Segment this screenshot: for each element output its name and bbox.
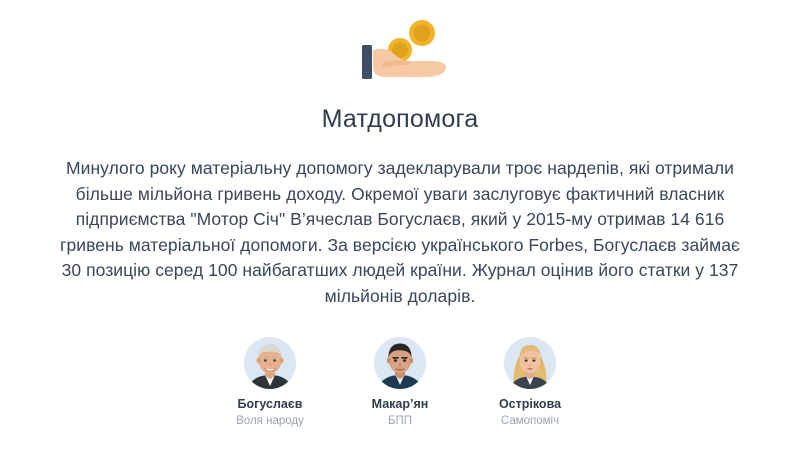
person-card-makaryan[interactable]: Макар’ян БПП: [354, 337, 446, 429]
header-icon-container: [340, 14, 460, 92]
avatar-makaryan: [374, 337, 426, 389]
person-party: Воля народу: [236, 414, 304, 429]
person-card-ostrikova[interactable]: Острікова Самопоміч: [484, 337, 576, 429]
hand-with-coins-icon: [345, 17, 455, 89]
person-name: Макар’ян: [372, 397, 429, 412]
person-name: Острікова: [499, 397, 561, 412]
avatar-boguslaev: [244, 337, 296, 389]
infographic-card: Матдопомога Минулого року матеріальну до…: [0, 0, 800, 458]
person-party: БПП: [388, 414, 412, 429]
person-name: Богуслаєв: [238, 397, 303, 412]
lead-paragraph: Минулого року матеріальну допомогу задек…: [50, 156, 750, 309]
page-title: Матдопомога: [322, 104, 479, 134]
avatar-ostrikova: [504, 337, 556, 389]
person-party: Самопоміч: [501, 414, 559, 429]
person-card-boguslaev[interactable]: Богуслаєв Воля народу: [224, 337, 316, 429]
people-row: Богуслаєв Воля народу: [224, 337, 576, 429]
